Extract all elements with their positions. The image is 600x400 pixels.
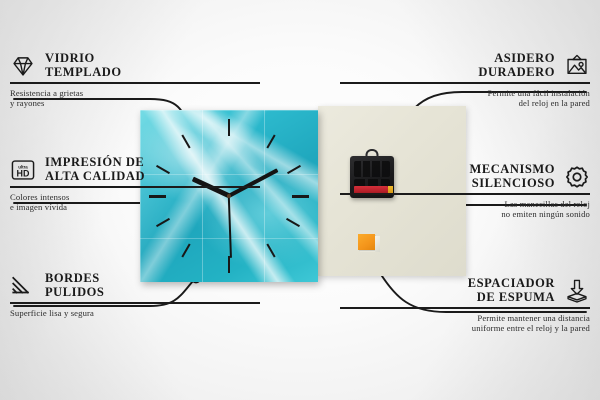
feature-divider (340, 193, 590, 194)
feature-divider (10, 302, 260, 303)
tick-7 (181, 244, 190, 258)
feature-desc-line2: y rayones (10, 98, 260, 109)
tick-1 (266, 135, 275, 149)
hanging-hook-icon (366, 149, 379, 158)
feature-title-line2: DE ESPUMA (468, 291, 555, 305)
feature-desc-line1: Permite mantener una distancia (340, 313, 590, 324)
feature-bordes-pulidos: BORDES PULIDOS Superficie lisa y segura (10, 272, 260, 318)
feature-title-line1: ESPACIADOR (468, 277, 555, 291)
feature-impresion-alta-calidad: ultra HD IMPRESIÓN DE ALTA CALIDAD Color… (10, 156, 260, 213)
feature-title-line2: SILENCIOSO (469, 177, 555, 191)
tick-6 (228, 256, 230, 273)
hanging-frame-icon (564, 53, 590, 79)
feature-title-line2: ALTA CALIDAD (45, 170, 145, 184)
diamond-icon (10, 53, 36, 79)
tick-8 (156, 218, 170, 227)
feature-desc-line2: uniforme entre el reloj y la pared (340, 323, 590, 334)
feature-divider (10, 82, 260, 83)
feature-desc-line1: Superficie lisa y segura (10, 308, 260, 319)
tick-3 (292, 195, 309, 198)
feature-divider (340, 82, 590, 83)
feature-title-line1: BORDES (45, 272, 104, 286)
feature-desc-line1: Las manecillas del reloj (340, 199, 590, 210)
feature-desc-line1: Colores intensos (10, 192, 260, 203)
feature-title-line2: PULIDOS (45, 286, 104, 300)
feature-desc-line2: e imagen vívida (10, 202, 260, 213)
feature-desc-line1: Resistencia a grietas (10, 88, 260, 99)
feature-vidrio-templado: VIDRIO TEMPLADO Resistencia a grietas y … (10, 52, 260, 109)
polished-edges-icon (10, 273, 36, 299)
tick-11 (181, 135, 190, 149)
feature-title-line1: VIDRIO (45, 52, 122, 66)
feature-divider (10, 186, 260, 187)
ultra-hd-icon: ultra HD (10, 157, 36, 183)
tick-5 (266, 244, 275, 258)
feature-title-line2: TEMPLADO (45, 66, 122, 80)
feature-asidero-duradero: ASIDERO DURADERO Permite una fácil insta… (340, 52, 590, 109)
feature-mecanismo-silencioso: MECANISMO SILENCIOSO Las manecillas del … (340, 163, 590, 220)
foam-spacer-icon (564, 278, 590, 304)
feature-desc-line2: no emiten ningún sonido (340, 209, 590, 220)
foam-spacer (358, 234, 375, 250)
feature-desc-line1: Permite una fácil instalación (340, 88, 590, 99)
feature-title-line1: ASIDERO (478, 52, 555, 66)
tick-12 (228, 119, 230, 136)
tick-2 (287, 165, 301, 174)
feature-desc-line2: del reloj en la pared (340, 98, 590, 109)
tick-4 (286, 218, 300, 227)
gear-icon (564, 164, 590, 190)
feature-title-line2: DURADERO (478, 66, 555, 80)
feature-divider (340, 307, 590, 308)
feature-title-line1: IMPRESIÓN DE (45, 156, 145, 170)
feature-espaciador-de-espuma: ESPACIADOR DE ESPUMA Permite mantener un… (340, 277, 590, 334)
feature-title-line1: MECANISMO (469, 163, 555, 177)
ultra-hd-large-text: HD (17, 168, 30, 178)
